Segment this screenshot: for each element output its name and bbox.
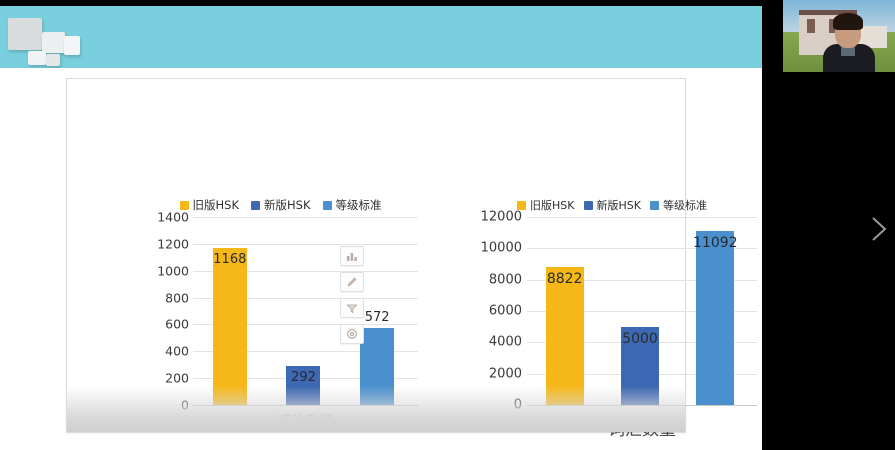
legend-label: 等级标准: [663, 197, 707, 213]
legend-label: 等级标准: [336, 197, 382, 213]
filter-icon[interactable]: [340, 298, 364, 318]
bar[interactable]: 1168: [213, 248, 247, 405]
presenter-hair: [833, 13, 863, 30]
bar[interactable]: 5000: [621, 327, 659, 405]
bar[interactable]: 8822: [546, 267, 584, 405]
y-tick-label: 1000: [157, 263, 189, 278]
y-tick-label: 800: [165, 290, 189, 305]
bar-column[interactable]: 1168: [213, 217, 247, 405]
bar-group-vocabulary: 8822500011092: [527, 217, 753, 405]
category-label-vocabulary: 词汇数量: [527, 415, 757, 440]
slide-header-band: [0, 6, 762, 68]
legend-item: 新版HSK: [584, 197, 641, 213]
bar[interactable]: 292: [286, 366, 320, 405]
legend-swatch-icon: [180, 201, 189, 210]
gridline: [193, 405, 418, 406]
presenter-webcam[interactable]: [783, 0, 895, 72]
bar-value-label: 292: [291, 370, 316, 385]
screen-capture: 新旧版大纲语法和词汇数量变化对比 旧版HSK 新版HSK 等级标准: [0, 0, 895, 450]
bar-value-label: 1168: [213, 252, 246, 267]
y-tick-label: 1200: [157, 236, 189, 251]
y-tick-label: 4000: [489, 335, 522, 350]
y-tick-label: 0: [514, 398, 522, 413]
next-slide-arrow[interactable]: [868, 214, 890, 244]
chart-vocabulary[interactable]: 旧版HSK 新版HSK 等级标准 02000400060008000100001…: [467, 197, 757, 450]
bar-group-grammar: 1168292572: [193, 217, 414, 405]
bar-value-label: 5000: [622, 331, 658, 347]
logo-blocks-icon: [6, 18, 96, 66]
legend-item: 等级标准: [650, 197, 707, 213]
plot-area-vocabulary: 020004000600080001000012000 882250001109…: [467, 217, 757, 405]
legend-item: 新版HSK: [251, 197, 311, 213]
y-tick-label: 8000: [489, 272, 522, 287]
chart-mini-toolbar[interactable]: [340, 246, 362, 344]
y-tick-label: 6000: [489, 304, 522, 319]
bar-column[interactable]: 292: [286, 217, 320, 405]
bar-value-label: 8822: [547, 271, 583, 287]
bar-column[interactable]: 572: [360, 217, 394, 405]
y-tick-label: 400: [165, 344, 189, 359]
y-tick-label: 12000: [481, 210, 522, 225]
chart-grammar[interactable]: 旧版HSK 新版HSK 等级标准 02004006008001000120014…: [143, 197, 418, 450]
slide-canvas: 新旧版大纲语法和词汇数量变化对比 旧版HSK 新版HSK 等级标准: [0, 68, 762, 450]
chart-icon[interactable]: [340, 246, 364, 266]
plot-area-grammar: 0200400600800100012001400 1168292572: [143, 217, 418, 405]
legend-label: 新版HSK: [597, 197, 641, 213]
y-tick-label: 200: [165, 371, 189, 386]
legend-swatch-icon: [323, 201, 332, 210]
y-tick-label: 10000: [481, 241, 522, 256]
category-label-grammar: 语法数量: [193, 411, 418, 431]
y-tick-label: 600: [165, 317, 189, 332]
y-tick-label: 0: [181, 398, 189, 413]
bar[interactable]: 11092: [696, 231, 734, 405]
bar[interactable]: 572: [360, 328, 394, 405]
bar-column[interactable]: 8822: [546, 217, 584, 405]
chart-panel[interactable]: 旧版HSK 新版HSK 等级标准 02004006008001000120014…: [66, 78, 686, 433]
legend-swatch-icon: [251, 201, 260, 210]
legend-item: 等级标准: [323, 197, 382, 213]
gridline: [527, 405, 757, 406]
y-tick-label: 2000: [489, 366, 522, 381]
legend-label: 新版HSK: [264, 197, 311, 213]
settings-icon[interactable]: [340, 324, 364, 344]
legend-swatch-icon: [584, 201, 593, 210]
legend-label: 旧版HSK: [193, 197, 240, 213]
bar-column[interactable]: 11092: [696, 217, 734, 405]
bar-value-label: 11092: [693, 235, 738, 251]
pencil-icon[interactable]: [340, 272, 364, 292]
bar-column[interactable]: 5000: [621, 217, 659, 405]
y-tick-label: 1400: [157, 210, 189, 225]
legend-label: 旧版HSK: [530, 197, 574, 213]
bar-value-label: 572: [365, 310, 390, 325]
legend-swatch-icon: [517, 201, 526, 210]
legend-item: 旧版HSK: [517, 197, 574, 213]
legend-swatch-icon: [650, 201, 659, 210]
